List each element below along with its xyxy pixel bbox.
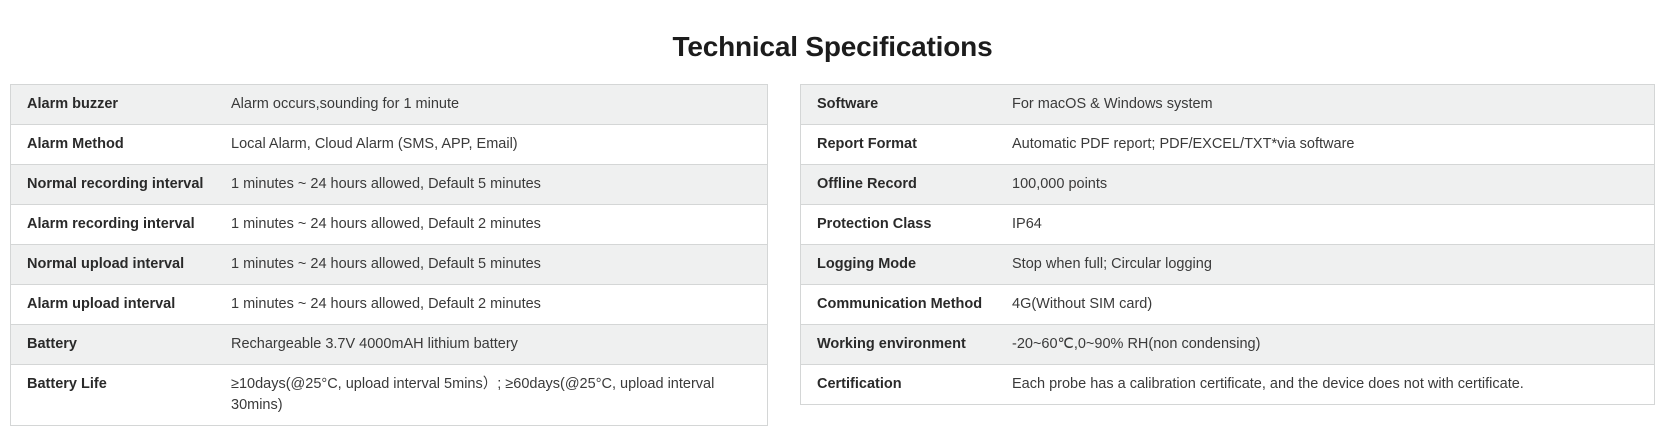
table-row: Alarm Method Local Alarm, Cloud Alarm (S… bbox=[11, 125, 767, 165]
spec-label: Report Format bbox=[801, 125, 1010, 164]
spec-value: 1 minutes ~ 24 hours allowed, Default 2 … bbox=[229, 285, 767, 324]
table-row: Battery Rechargeable 3.7V 4000mAH lithiu… bbox=[11, 325, 767, 365]
spec-label: Alarm recording interval bbox=[11, 205, 229, 244]
specifications-tables: Alarm buzzer Alarm occurs,sounding for 1… bbox=[0, 84, 1665, 426]
spec-label: Certification bbox=[801, 365, 1010, 404]
spec-value: 1 minutes ~ 24 hours allowed, Default 5 … bbox=[229, 245, 767, 284]
table-row: Software For macOS & Windows system bbox=[801, 85, 1654, 125]
spec-label: Normal upload interval bbox=[11, 245, 229, 284]
table-row: Protection Class IP64 bbox=[801, 205, 1654, 245]
spec-value: Stop when full; Circular logging bbox=[1010, 245, 1654, 284]
spec-label: Communication Method bbox=[801, 285, 1010, 324]
spec-label: Offline Record bbox=[801, 165, 1010, 204]
table-row: Offline Record 100,000 points bbox=[801, 165, 1654, 205]
spec-value: Each probe has a calibration certificate… bbox=[1010, 365, 1654, 404]
spec-value: 1 minutes ~ 24 hours allowed, Default 5 … bbox=[229, 165, 767, 204]
spec-label: Battery bbox=[11, 325, 229, 364]
table-row: Certification Each probe has a calibrati… bbox=[801, 365, 1654, 405]
spec-label: Alarm upload interval bbox=[11, 285, 229, 324]
spec-value: Rechargeable 3.7V 4000mAH lithium batter… bbox=[229, 325, 767, 364]
right-spec-table: Software For macOS & Windows system Repo… bbox=[800, 84, 1655, 405]
spec-label: Normal recording interval bbox=[11, 165, 229, 204]
spec-value: ≥10days(@25°C, upload interval 5mins）; ≥… bbox=[229, 365, 767, 425]
spec-value: 1 minutes ~ 24 hours allowed, Default 2 … bbox=[229, 205, 767, 244]
spec-label: Alarm buzzer bbox=[11, 85, 229, 124]
spec-value: Alarm occurs,sounding for 1 minute bbox=[229, 85, 767, 124]
table-row: Report Format Automatic PDF report; PDF/… bbox=[801, 125, 1654, 165]
table-row: Battery Life ≥10days(@25°C, upload inter… bbox=[11, 365, 767, 426]
spec-label: Battery Life bbox=[11, 365, 229, 425]
table-row: Communication Method 4G(Without SIM card… bbox=[801, 285, 1654, 325]
table-row: Alarm buzzer Alarm occurs,sounding for 1… bbox=[11, 85, 767, 125]
table-row: Normal upload interval 1 minutes ~ 24 ho… bbox=[11, 245, 767, 285]
spec-label: Working environment bbox=[801, 325, 1010, 364]
spec-value: IP64 bbox=[1010, 205, 1654, 244]
spec-value: -20~60℃,0~90% RH(non condensing) bbox=[1010, 325, 1654, 364]
table-row: Working environment -20~60℃,0~90% RH(non… bbox=[801, 325, 1654, 365]
technical-specifications-page: Technical Specifications Alarm buzzer Al… bbox=[0, 0, 1665, 446]
spec-value: For macOS & Windows system bbox=[1010, 85, 1654, 124]
table-row: Alarm upload interval 1 minutes ~ 24 hou… bbox=[11, 285, 767, 325]
table-row: Normal recording interval 1 minutes ~ 24… bbox=[11, 165, 767, 205]
spec-value: Local Alarm, Cloud Alarm (SMS, APP, Emai… bbox=[229, 125, 767, 164]
spec-value: 4G(Without SIM card) bbox=[1010, 285, 1654, 324]
table-row: Alarm recording interval 1 minutes ~ 24 … bbox=[11, 205, 767, 245]
spec-label: Software bbox=[801, 85, 1010, 124]
spec-label: Logging Mode bbox=[801, 245, 1010, 284]
spec-label: Protection Class bbox=[801, 205, 1010, 244]
page-title: Technical Specifications bbox=[0, 0, 1665, 65]
spec-label: Alarm Method bbox=[11, 125, 229, 164]
table-row: Logging Mode Stop when full; Circular lo… bbox=[801, 245, 1654, 285]
spec-value: 100,000 points bbox=[1010, 165, 1654, 204]
left-spec-table: Alarm buzzer Alarm occurs,sounding for 1… bbox=[10, 84, 768, 426]
spec-value: Automatic PDF report; PDF/EXCEL/TXT*via … bbox=[1010, 125, 1654, 164]
